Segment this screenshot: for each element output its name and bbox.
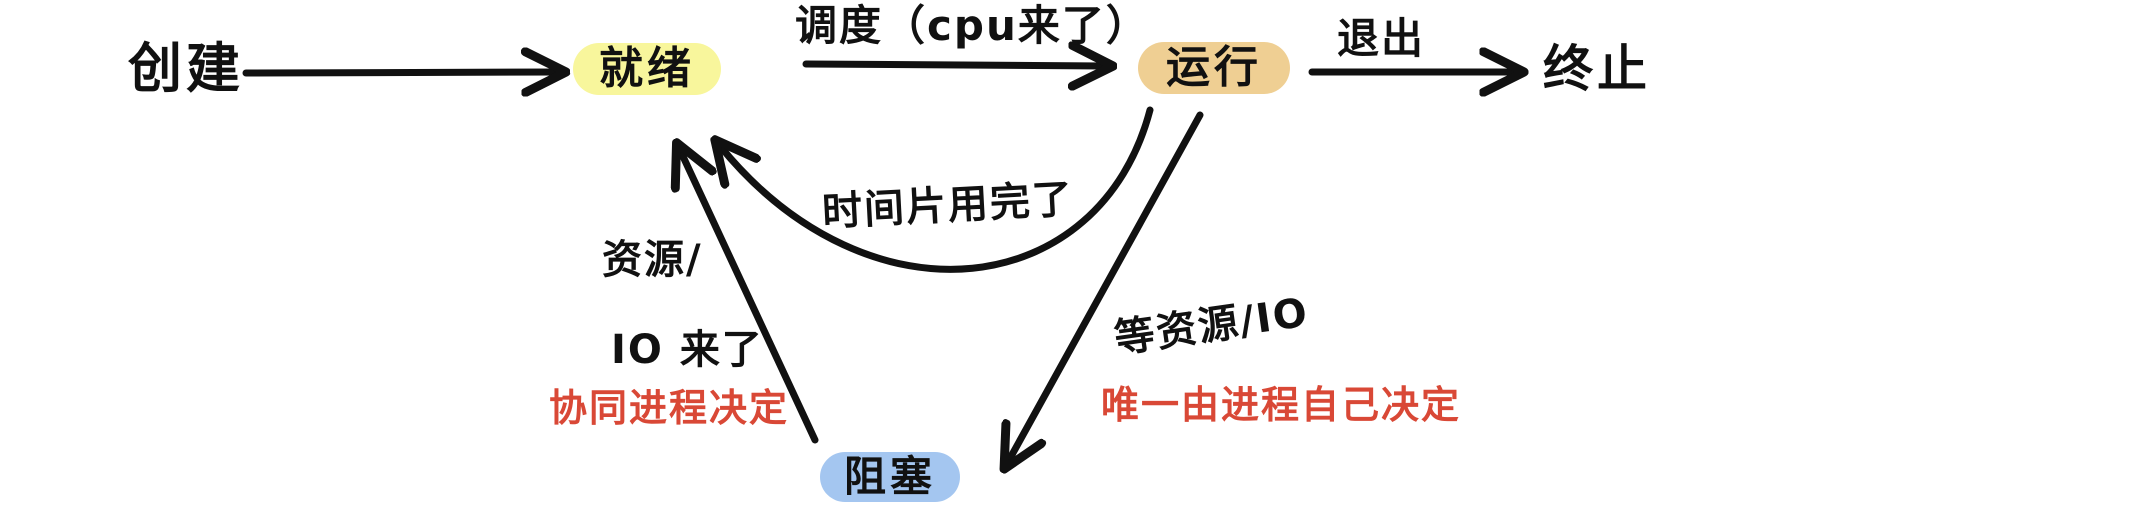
annotation-cooperating-process-decides: 协同进程决定 (549, 389, 789, 427)
arrow-created-to-ready (246, 72, 558, 73)
transition-label-schedule: 调度（cpu来了） (795, 5, 1150, 47)
annotation-process-self-decides: 唯一由进程自己决定 (1101, 386, 1461, 424)
arrow-layer (0, 0, 2131, 518)
arrow-ready-to-running (806, 64, 1105, 66)
diagram-canvas: 创建 就绪 运行 终止 阻塞 调度（cpu来了） 退出 时间片用完了 资源/ I… (0, 0, 2131, 518)
transition-label-exit: 退出 (1337, 18, 1425, 60)
state-node-running[interactable]: 运行 (1138, 42, 1290, 94)
state-node-created[interactable]: 创建 (128, 42, 244, 96)
state-node-blocked[interactable]: 阻塞 (820, 452, 960, 502)
annotation-io-arrived: IO 来了 (611, 330, 764, 370)
transition-label-time-slice-expired: 时间片用完了 (821, 179, 1075, 232)
transition-label-resource: 资源/ (602, 240, 703, 280)
state-node-ready[interactable]: 就绪 (573, 43, 721, 95)
transition-label-wait-resource-io: 等资源/IO (1112, 293, 1311, 360)
state-node-terminated[interactable]: 终止 (1543, 44, 1651, 94)
